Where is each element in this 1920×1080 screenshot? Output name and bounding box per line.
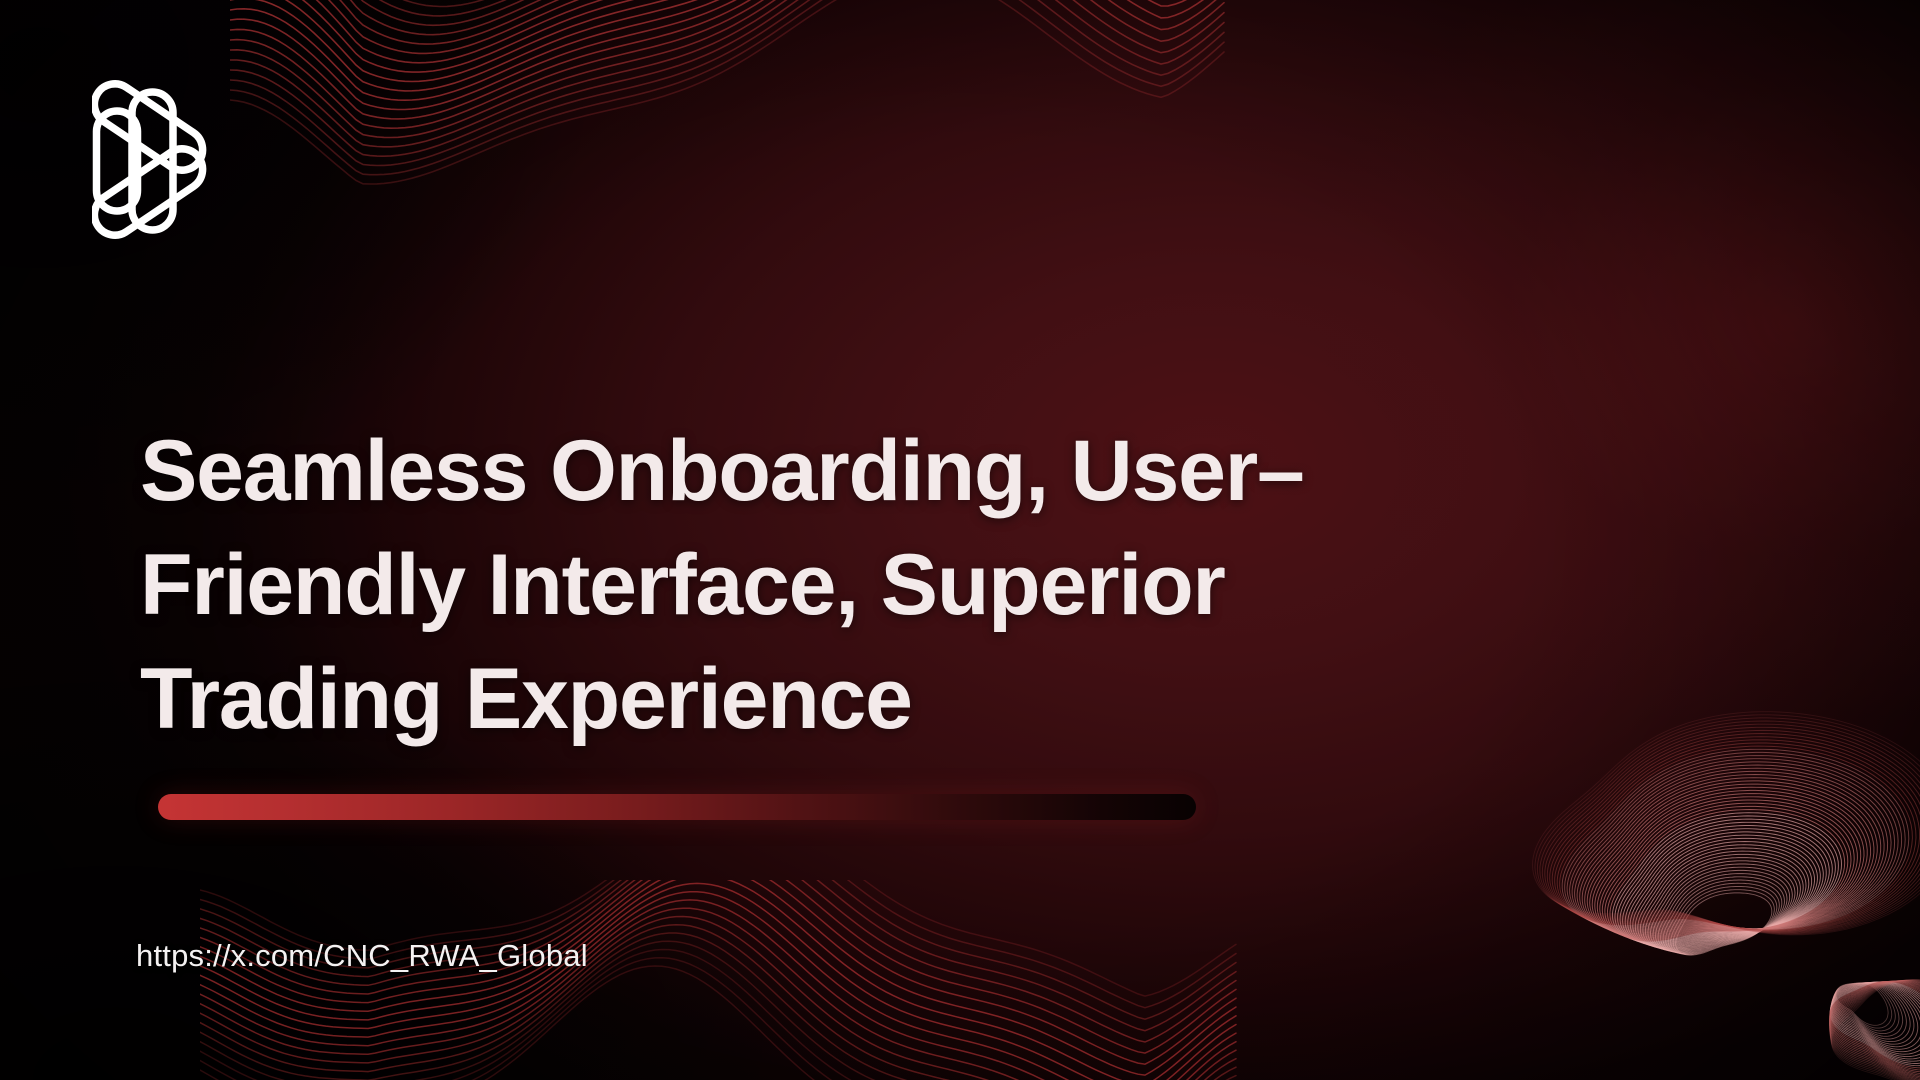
- headline-line-1: Seamless Onboarding, User–: [140, 414, 1480, 528]
- cnc-hexagon-capsule-logo-icon[interactable]: [92, 74, 224, 244]
- promo-banner: Seamless Onboarding, User– Friendly Inte…: [0, 0, 1920, 1080]
- headline-line-2: Friendly Interface, Superior: [140, 528, 1480, 642]
- footer-url-link[interactable]: https://x.com/CNC_RWA_Global: [136, 938, 588, 974]
- headline-line-3: Trading Experience: [140, 642, 1480, 756]
- accent-gradient-rule: [158, 794, 1196, 820]
- headline: Seamless Onboarding, User– Friendly Inte…: [140, 414, 1480, 757]
